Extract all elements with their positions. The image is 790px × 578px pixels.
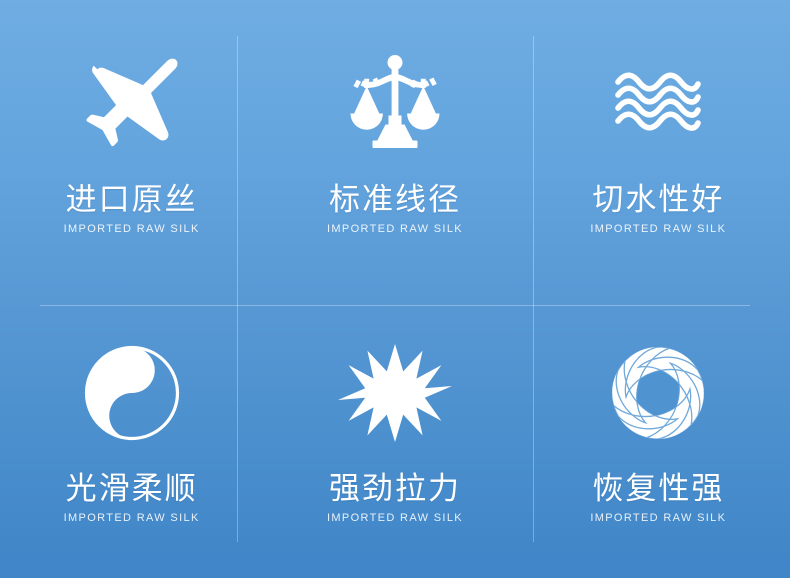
- water-waves-icon: [603, 46, 713, 158]
- balance-scale-icon: [340, 46, 450, 158]
- feature-cell-imported-raw-silk[interactable]: 进口原丝 IMPORTED RAW SILK: [0, 0, 263, 289]
- feature-title-en: IMPORTED RAW SILK: [64, 223, 200, 235]
- feature-cell-strong-tensile[interactable]: 强劲拉力 IMPORTED RAW SILK: [263, 289, 526, 578]
- feature-title-en: IMPORTED RAW SILK: [327, 223, 463, 235]
- feature-title-en: IMPORTED RAW SILK: [64, 512, 200, 524]
- feature-title-cn: 强劲拉力: [329, 473, 461, 505]
- yin-yang-icon: [77, 337, 187, 449]
- feature-title-en: IMPORTED RAW SILK: [590, 512, 726, 524]
- feature-title-en: IMPORTED RAW SILK: [590, 223, 726, 235]
- feature-cell-standard-diameter[interactable]: 标准线径 IMPORTED RAW SILK: [263, 0, 526, 289]
- feature-title-cn: 进口原丝: [66, 184, 198, 216]
- feature-cell-water-repellency[interactable]: 切水性好 IMPORTED RAW SILK: [527, 0, 790, 289]
- feature-cell-smooth-soft[interactable]: 光滑柔顺 IMPORTED RAW SILK: [0, 289, 263, 578]
- feature-title-cn: 恢复性强: [592, 473, 724, 505]
- starburst-icon: [340, 337, 450, 449]
- feature-title-cn: 光滑柔顺: [66, 473, 198, 505]
- airplane-icon: [77, 46, 187, 158]
- feature-cell-high-resilience[interactable]: 恢复性强 IMPORTED RAW SILK: [527, 289, 790, 578]
- feature-title-en: IMPORTED RAW SILK: [327, 512, 463, 524]
- camera-aperture-icon: [603, 337, 713, 449]
- feature-highlights-panel: 进口原丝 IMPORTED RAW SILK: [0, 0, 790, 578]
- feature-title-cn: 标准线径: [329, 184, 461, 216]
- feature-grid: 进口原丝 IMPORTED RAW SILK: [0, 0, 790, 578]
- feature-title-cn: 切水性好: [592, 184, 724, 216]
